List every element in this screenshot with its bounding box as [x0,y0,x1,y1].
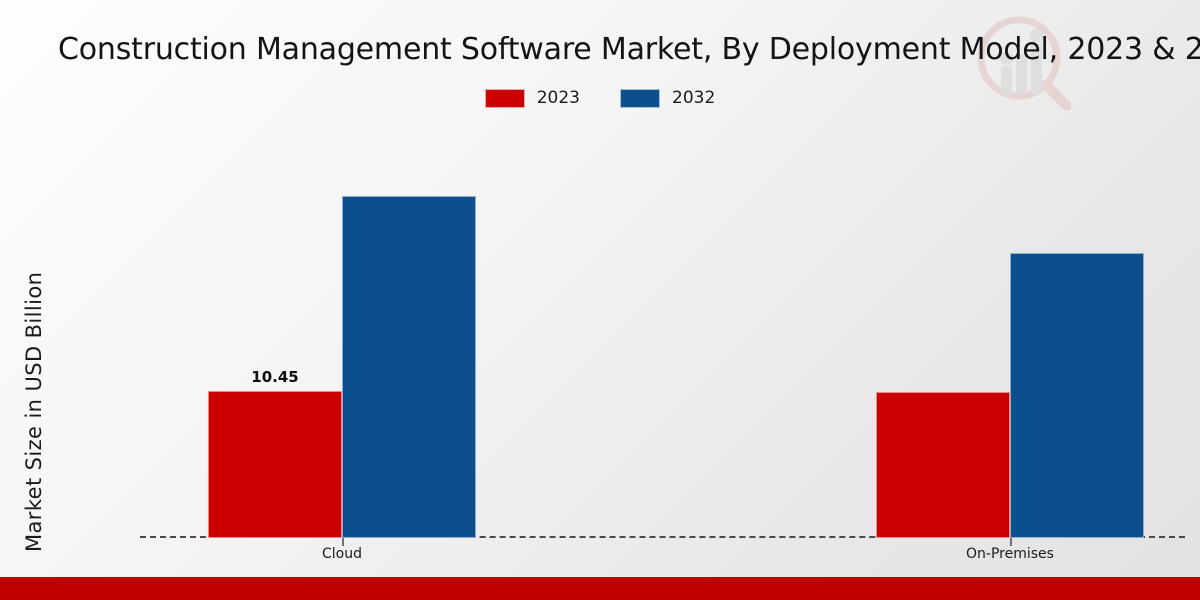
bar-on-premises-2032[interactable] [1010,253,1144,538]
x-axis-label-cloud: Cloud [322,546,362,562]
legend-item-2023[interactable]: 2023 [485,88,580,108]
page-title: Construction Management Software Market,… [58,28,1200,72]
legend-swatch-2032 [620,89,660,108]
chart-figure: Construction Management Software Market,… [0,0,1200,600]
y-axis-title: Market Size in USD Billion [22,0,58,552]
legend-label-2032: 2032 [672,88,715,108]
bar-cloud-2032[interactable] [342,196,476,538]
legend-swatch-2023 [485,89,525,108]
footer-bar [0,577,1200,600]
bar-on-premises-2023[interactable] [876,392,1010,538]
legend-item-2032[interactable]: 2032 [620,88,715,108]
plot-area: 10.45 [140,130,1185,538]
x-axis-tick [342,538,344,546]
chart-legend: 2023 2032 [0,88,1200,108]
bar-cloud-2023[interactable] [208,391,342,538]
legend-label-2023: 2023 [537,88,580,108]
x-axis-label-on-premises: On-Premises [966,546,1054,562]
bar-value-label: 10.45 [251,368,298,386]
x-axis-tick [1010,538,1012,546]
